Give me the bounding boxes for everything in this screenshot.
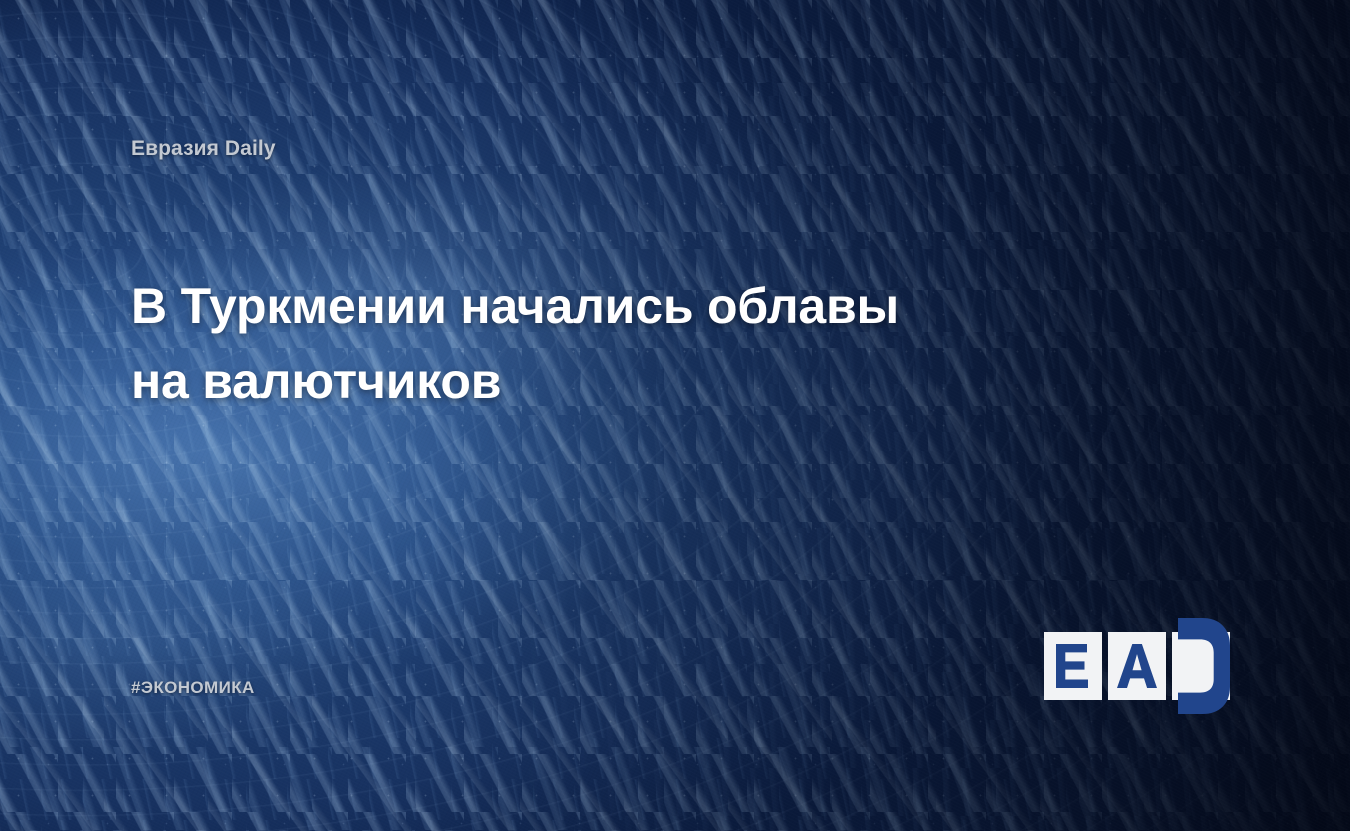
publisher-brand-name: Евразия Daily bbox=[131, 137, 276, 161]
headline: В Туркмении начались облавы на валютчико… bbox=[131, 269, 1031, 419]
headline-line-1: В Туркмении начались облавы bbox=[131, 269, 1031, 344]
logo-tile-a bbox=[1108, 632, 1166, 700]
headline-line-2: на валютчиков bbox=[131, 344, 1031, 419]
logo-letter-a-icon bbox=[1117, 644, 1157, 688]
eadaily-logo[interactable] bbox=[1044, 632, 1230, 700]
logo-tile-e bbox=[1044, 632, 1102, 700]
social-share-card: Евразия Daily В Туркмении начались облав… bbox=[0, 0, 1350, 831]
logo-letter-d-icon bbox=[1172, 617, 1230, 715]
logo-letter-e-icon bbox=[1056, 644, 1090, 688]
category-hashtag: #ЭКОНОМИКА bbox=[131, 678, 255, 698]
card-content: Евразия Daily В Туркмении начались облав… bbox=[0, 0, 1350, 831]
logo-tile-d bbox=[1172, 632, 1230, 700]
